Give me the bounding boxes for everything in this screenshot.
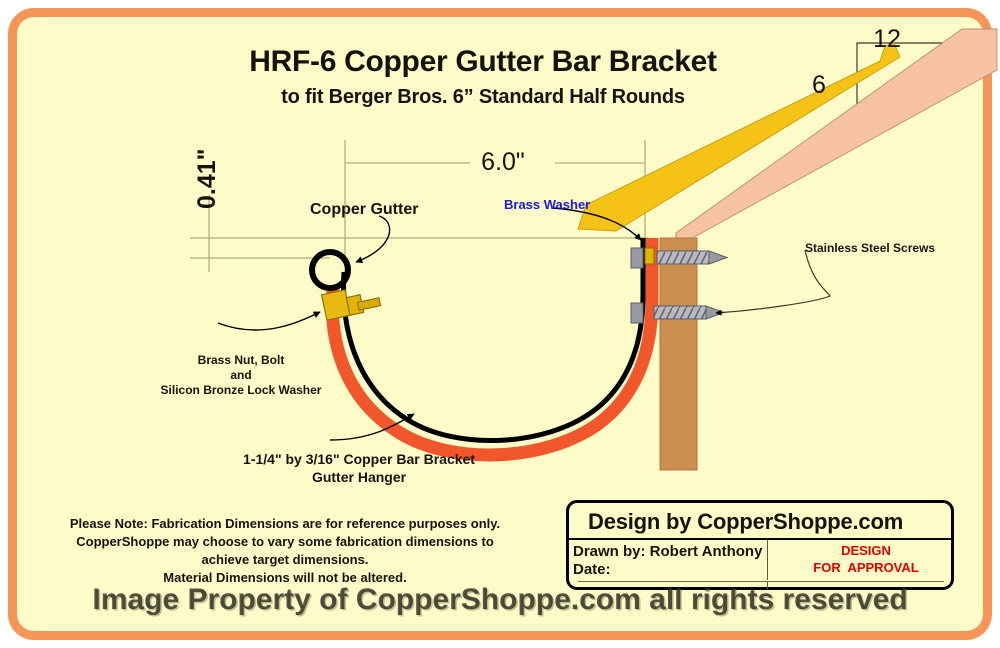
label-stainless-screws: Stainless Steel Screws xyxy=(805,241,935,255)
title-block-divider-bottom xyxy=(578,581,944,582)
label-nut-bolt-line1: Brass Nut, Bolt xyxy=(198,353,285,367)
label-nut-bolt-line3: Silicon Bronze Lock Washer xyxy=(161,383,322,397)
label-nut-bolt-line2: and xyxy=(230,368,251,382)
label-bar-bracket-line1: 1-1/4" by 3/16" Copper Bar Bracket xyxy=(243,451,475,467)
title-block-divider-vertical xyxy=(767,540,768,580)
label-bar-bracket-line2: Gutter Hanger xyxy=(312,469,406,485)
note-line-2: CopperShoppe may choose to vary some fab… xyxy=(76,534,494,549)
dimension-label-horizontal: 6.0" xyxy=(481,148,525,177)
approval-stamp-line2: FOR APPROVAL xyxy=(813,560,918,575)
title-block-divider-top xyxy=(568,538,952,540)
copper-bar-bracket xyxy=(332,238,652,455)
brass-washer-part xyxy=(645,248,654,264)
fascia-board xyxy=(660,238,697,470)
approval-stamp-line1: DESIGN xyxy=(841,543,891,558)
drawing-sheet: HRF-6 Copper Gutter Bar Bracket to fit B… xyxy=(0,0,1000,648)
title-block-heading: Design by CopperShoppe.com xyxy=(588,509,903,535)
dimension-label-vertical: 0.41" xyxy=(193,148,222,209)
pitch-rise-label: 6 xyxy=(812,71,826,100)
brass-nut-bolt-assembly xyxy=(322,290,381,320)
page-title: HRF-6 Copper Gutter Bar Bracket xyxy=(249,45,716,79)
note-line-3: achieve target dimensions. xyxy=(202,552,369,567)
note-line-1: Please Note: Fabrication Dimensions are … xyxy=(70,516,500,531)
title-block-drawn-by: Drawn by: Robert Anthony xyxy=(573,543,762,560)
copper-gutter-profile xyxy=(312,238,643,441)
title-block-date: Date: xyxy=(573,561,611,578)
leader-copper-gutter xyxy=(356,216,390,262)
leader-screws xyxy=(716,250,830,313)
label-copper-gutter: Copper Gutter xyxy=(310,201,418,219)
label-brass-washer: Brass Washer xyxy=(504,197,590,212)
copyright-watermark: Image Property of CopperShoppe.com all r… xyxy=(92,583,907,617)
leader-nut-bolt xyxy=(218,312,320,330)
leader-lines xyxy=(218,208,641,440)
pitch-run-label: 12 xyxy=(873,25,901,54)
page-subtitle: to fit Berger Bros. 6” Standard Half Rou… xyxy=(281,86,685,109)
